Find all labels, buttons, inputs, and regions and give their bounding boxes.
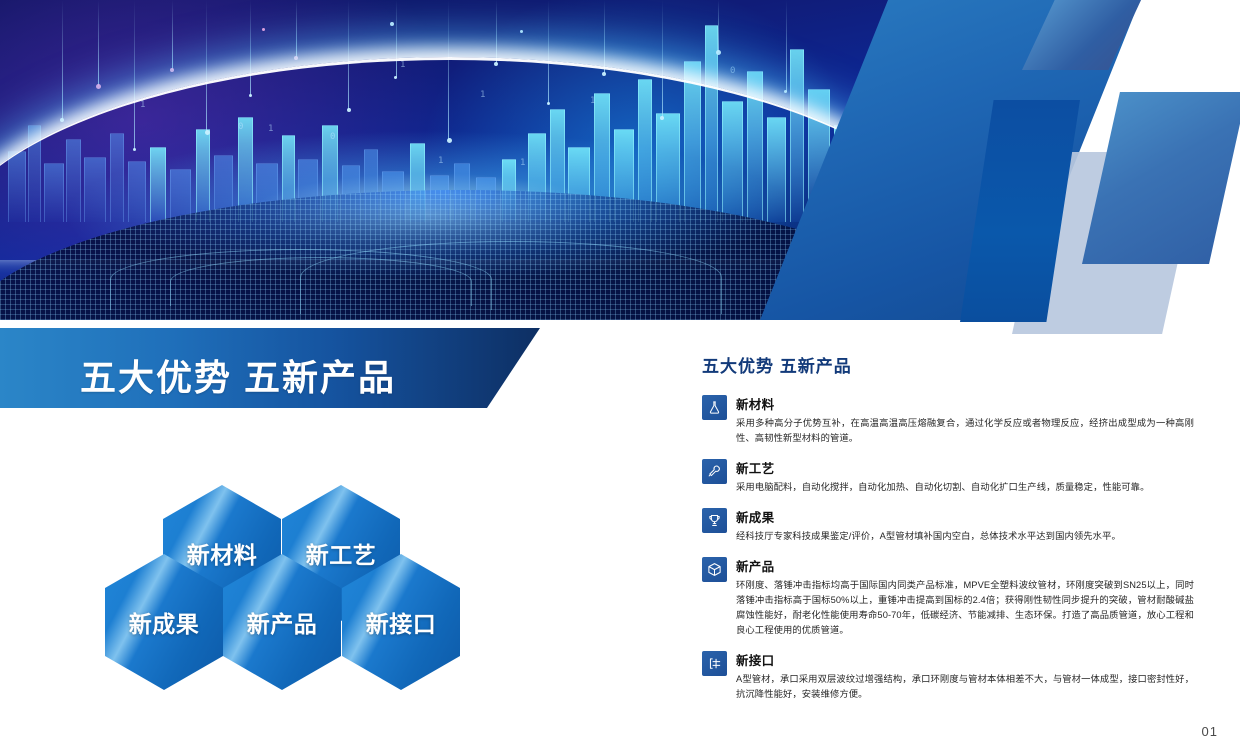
poster-page: 1 0 0 1 1 1 1 1 0 1 五大优势 五新 bbox=[0, 0, 1240, 753]
pipe-joint-icon bbox=[702, 651, 727, 676]
feature-panel: 五大优势 五新产品 新材料 采用多种高分子优势互补，在高温高温高压熔融复合，通过… bbox=[702, 352, 1194, 714]
feature-item-new-material: 新材料 采用多种高分子优势互补，在高温高温高压熔融复合，通过化学反应或者物理反应… bbox=[702, 394, 1194, 446]
feature-text: 采用电脑配料，自动化搅拌，自动化加热、自动化切割、自动化扩口生产线，质量稳定，性… bbox=[736, 480, 1194, 495]
feature-heading: 新工艺 bbox=[736, 458, 1194, 477]
feature-heading: 新材料 bbox=[736, 394, 1194, 413]
feature-text: 环刚度、落锤冲击指标均高于国际国内同类产品标准，MPVE全塑料波纹管材，环刚度突… bbox=[736, 578, 1194, 638]
trophy-icon bbox=[702, 508, 727, 533]
feature-heading: 新接口 bbox=[736, 650, 1194, 669]
flask-icon bbox=[702, 395, 727, 420]
cube-icon bbox=[702, 557, 727, 582]
hex-label: 新成果 bbox=[129, 605, 200, 639]
feature-item-new-product: 新产品 环刚度、落锤冲击指标均高于国际国内同类产品标准，MPVE全塑料波纹管材，… bbox=[702, 556, 1194, 638]
hammer-icon bbox=[702, 459, 727, 484]
feature-text: A型管材，承口采用双层波纹过增强结构，承口环刚度与管材本体相差不大，与管材一体成… bbox=[736, 672, 1194, 702]
feature-item-new-process: 新工艺 采用电脑配料，自动化搅拌，自动化加热、自动化切割、自动化扩口生产线，质量… bbox=[702, 458, 1194, 495]
page-number: 01 bbox=[1202, 724, 1218, 739]
hex-label: 新产品 bbox=[247, 605, 318, 639]
hero-city-image: 1 0 0 1 1 1 1 1 0 1 bbox=[0, 0, 900, 320]
hex-label: 新工艺 bbox=[306, 536, 377, 570]
hex-label: 新接口 bbox=[366, 605, 437, 639]
feature-text: 经科技厅专家科技成果鉴定/评价，A型管材填补国内空白，总体技术水平达到国内领先水… bbox=[736, 529, 1194, 544]
skyline-graphic: 1 0 0 1 1 1 1 1 0 1 bbox=[0, 0, 900, 320]
feature-item-new-achievement: 新成果 经科技厅专家科技成果鉴定/评价，A型管材填补国内空白，总体技术水平达到国… bbox=[702, 507, 1194, 544]
hex-label: 新材料 bbox=[187, 536, 258, 570]
feature-text: 采用多种高分子优势互补，在高温高温高压熔融复合，通过化学反应或者物理反应，经挤出… bbox=[736, 416, 1194, 446]
feature-panel-title: 五大优势 五新产品 bbox=[702, 352, 1194, 377]
feature-item-new-interface: 新接口 A型管材，承口采用双层波纹过增强结构，承口环刚度与管材本体相差不大，与管… bbox=[702, 650, 1194, 702]
hexagon-cluster: 新材料 新工艺 新成果 新产品 新接口 bbox=[105, 485, 435, 690]
banner-title: 五大优势 五新产品 bbox=[80, 349, 396, 401]
feature-heading: 新成果 bbox=[736, 507, 1194, 526]
feature-heading: 新产品 bbox=[736, 556, 1194, 575]
